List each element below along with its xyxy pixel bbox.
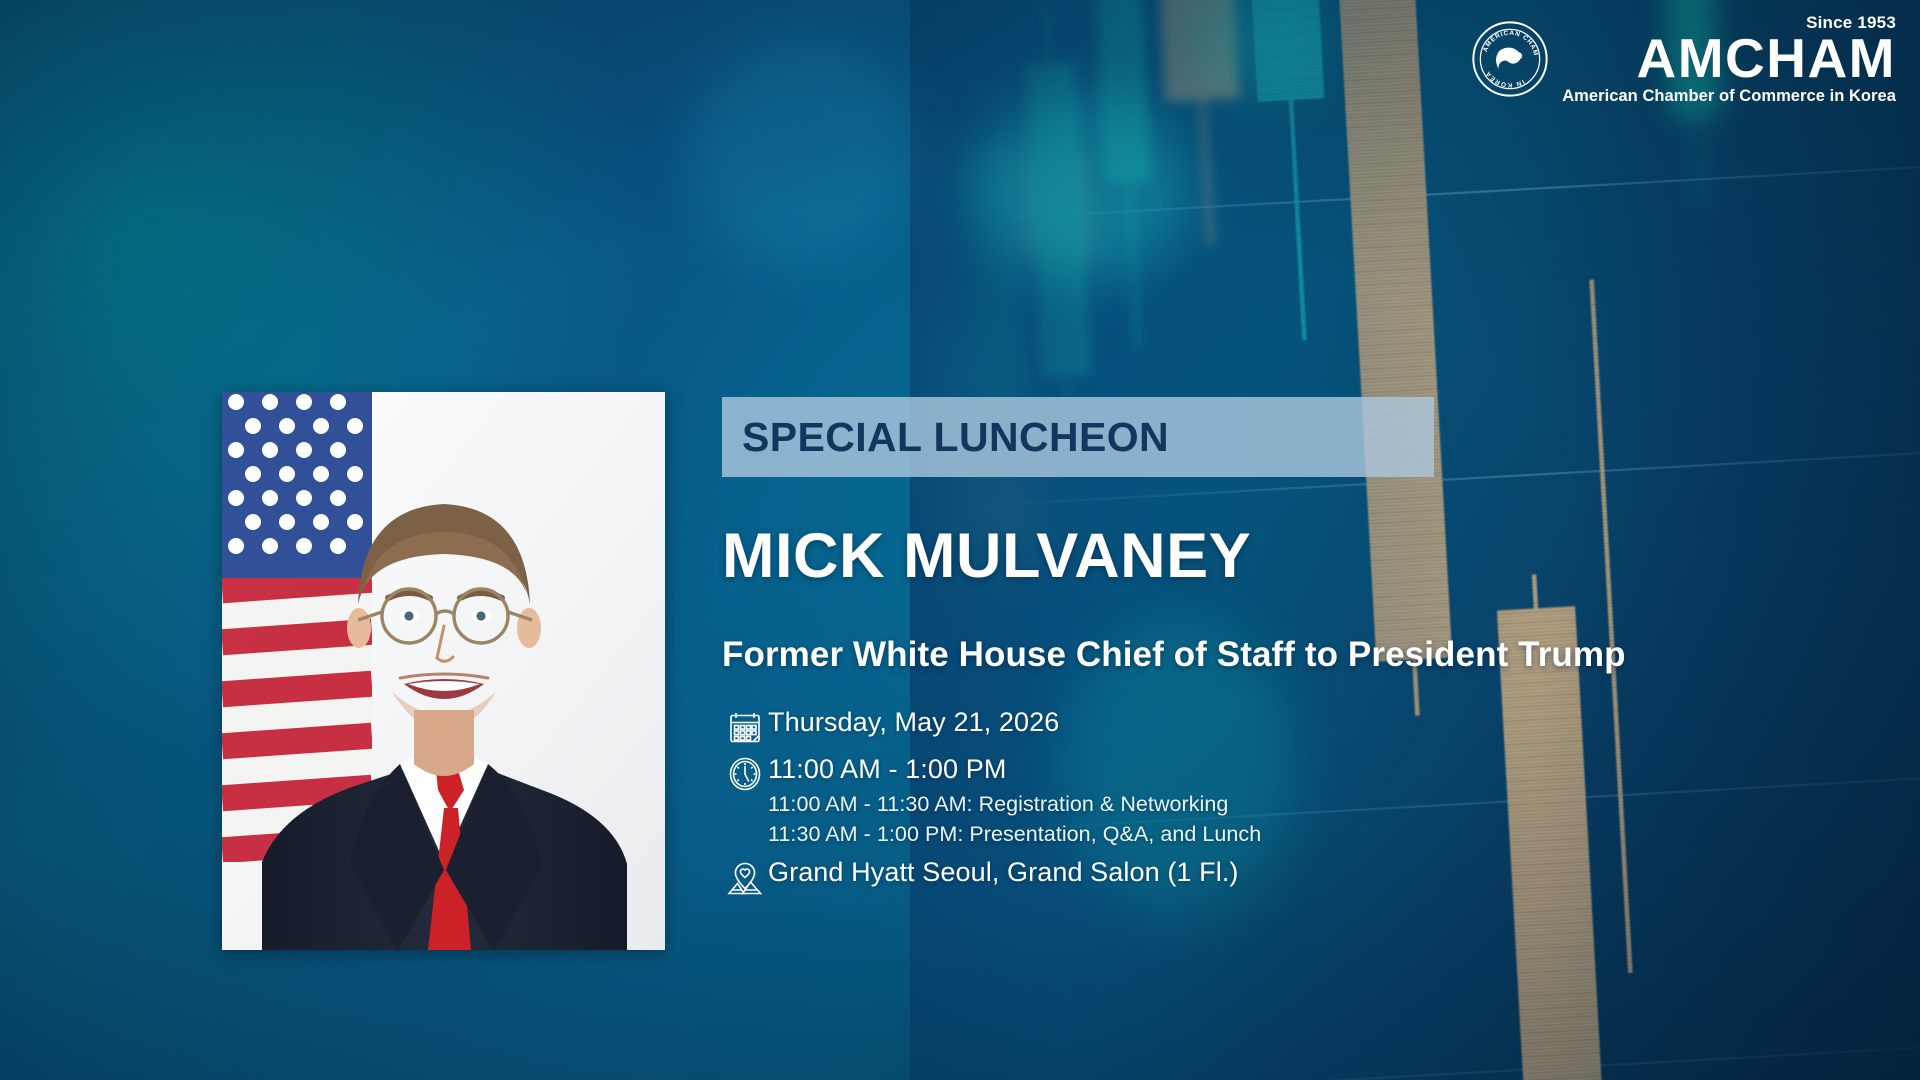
background-glow (690, 30, 910, 270)
category-label: SPECIAL LUNCHEON (742, 414, 1169, 461)
svg-text:IN KOREA: IN KOREA (1484, 69, 1525, 88)
detail-row-date: Thursday, May 21, 2026 (722, 707, 1852, 745)
background-glow (980, 90, 1190, 280)
logo-full-name: American Chamber of Commerce in Korea (1562, 88, 1896, 105)
event-venue: Grand Hyatt Seoul, Grand Salon (1 Fl.) (768, 857, 1239, 889)
speaker-role: Former White House Chief of Staff to Pre… (722, 636, 1852, 675)
event-text-column: SPECIAL LUNCHEON MICK MULVANEY Former Wh… (722, 397, 1852, 906)
speaker-name: MICK MULVANEY (722, 525, 1852, 588)
amcham-seal-icon: AMERICAN CHAMBER OF COMMERCE IN KOREA (1471, 20, 1549, 98)
location-pin-icon (722, 857, 768, 897)
speaker-portrait (222, 392, 665, 950)
amcham-logo: AMERICAN CHAMBER OF COMMERCE IN KOREA Si… (1471, 14, 1896, 104)
detail-row-time: 11:00 AM - 1:00 PM 11:00 AM - 11:30 AM: … (722, 754, 1852, 849)
event-details: Thursday, May 21, 2026 11:00 AM - 1:00 P… (722, 707, 1852, 898)
detail-row-venue: Grand Hyatt Seoul, Grand Salon (1 Fl.) (722, 857, 1852, 897)
calendar-icon (722, 707, 768, 745)
event-poster: AMERICAN CHAMBER OF COMMERCE IN KOREA Si… (0, 0, 1920, 1080)
clock-icon (722, 754, 768, 792)
event-time: 11:00 AM - 1:00 PM (768, 754, 1261, 786)
event-date: Thursday, May 21, 2026 (768, 707, 1059, 739)
event-schedule-line-2: 11:30 AM - 1:00 PM: Presentation, Q&A, a… (768, 820, 1261, 848)
logo-wordmark: AMCHAM (1636, 32, 1896, 85)
category-banner: SPECIAL LUNCHEON (722, 397, 1434, 477)
portrait-image (222, 392, 665, 950)
event-schedule-line-1: 11:00 AM - 11:30 AM: Registration & Netw… (768, 790, 1261, 818)
